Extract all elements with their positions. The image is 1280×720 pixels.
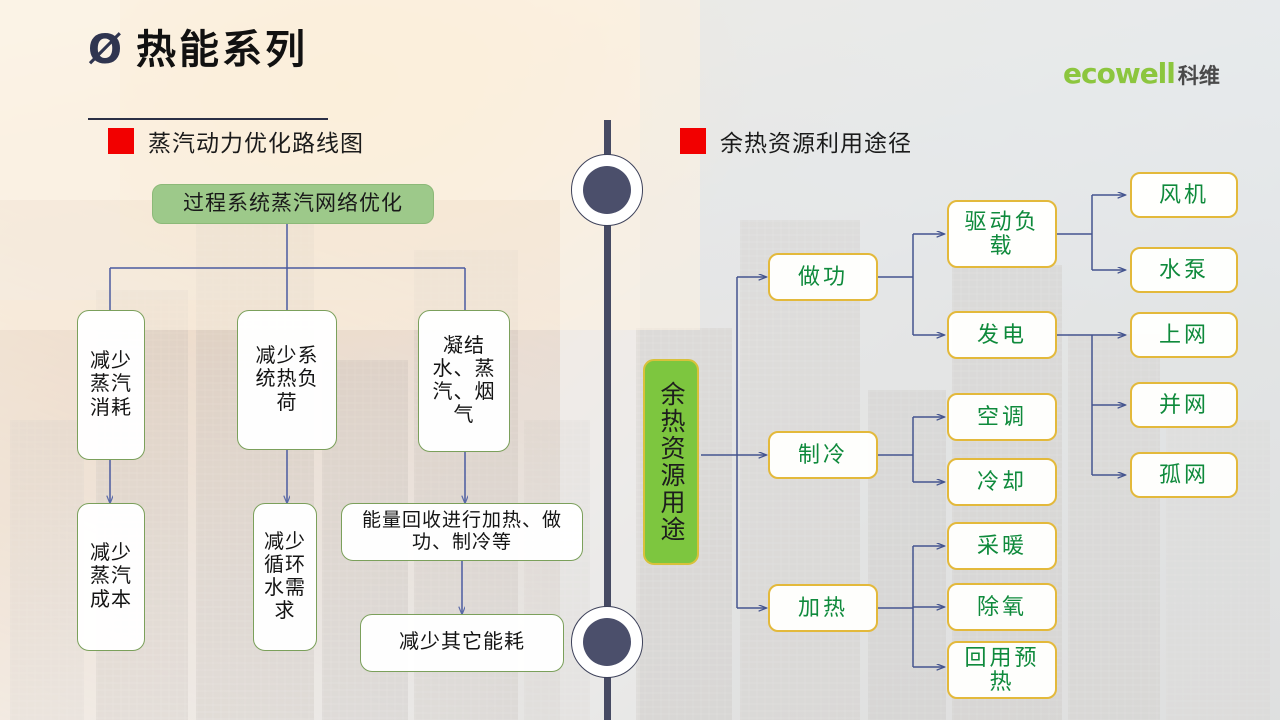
right-node-power-generation[interactable]: 发电 (947, 311, 1057, 359)
right-tree-connectors (0, 0, 1280, 720)
right-node-grid-export[interactable]: 上网 (1130, 312, 1238, 358)
right-node-grid-connected[interactable]: 并网 (1130, 382, 1238, 428)
right-node-reuse-preheat[interactable]: 回用预热 (947, 641, 1057, 699)
right-node-refrigeration[interactable]: 制冷 (768, 431, 878, 479)
right-node-heating[interactable]: 加热 (768, 584, 878, 632)
right-node-island-grid[interactable]: 孤网 (1130, 452, 1238, 498)
right-node-deaeration[interactable]: 除氧 (947, 583, 1057, 631)
right-node-air-conditioning[interactable]: 空调 (947, 393, 1057, 441)
right-node-drive-load[interactable]: 驱动负载 (947, 200, 1057, 268)
right-node-work[interactable]: 做功 (768, 253, 878, 301)
right-node-water-pump[interactable]: 水泵 (1130, 247, 1238, 293)
right-node-cooling[interactable]: 冷却 (947, 458, 1057, 506)
right-node-space-heating[interactable]: 采暖 (947, 522, 1057, 570)
right-node-fan[interactable]: 风机 (1130, 172, 1238, 218)
slide-canvas: Ø 热能系列 ecowell 科维 蒸汽动力优化路线图 余热资源利用途径 (0, 0, 1280, 720)
